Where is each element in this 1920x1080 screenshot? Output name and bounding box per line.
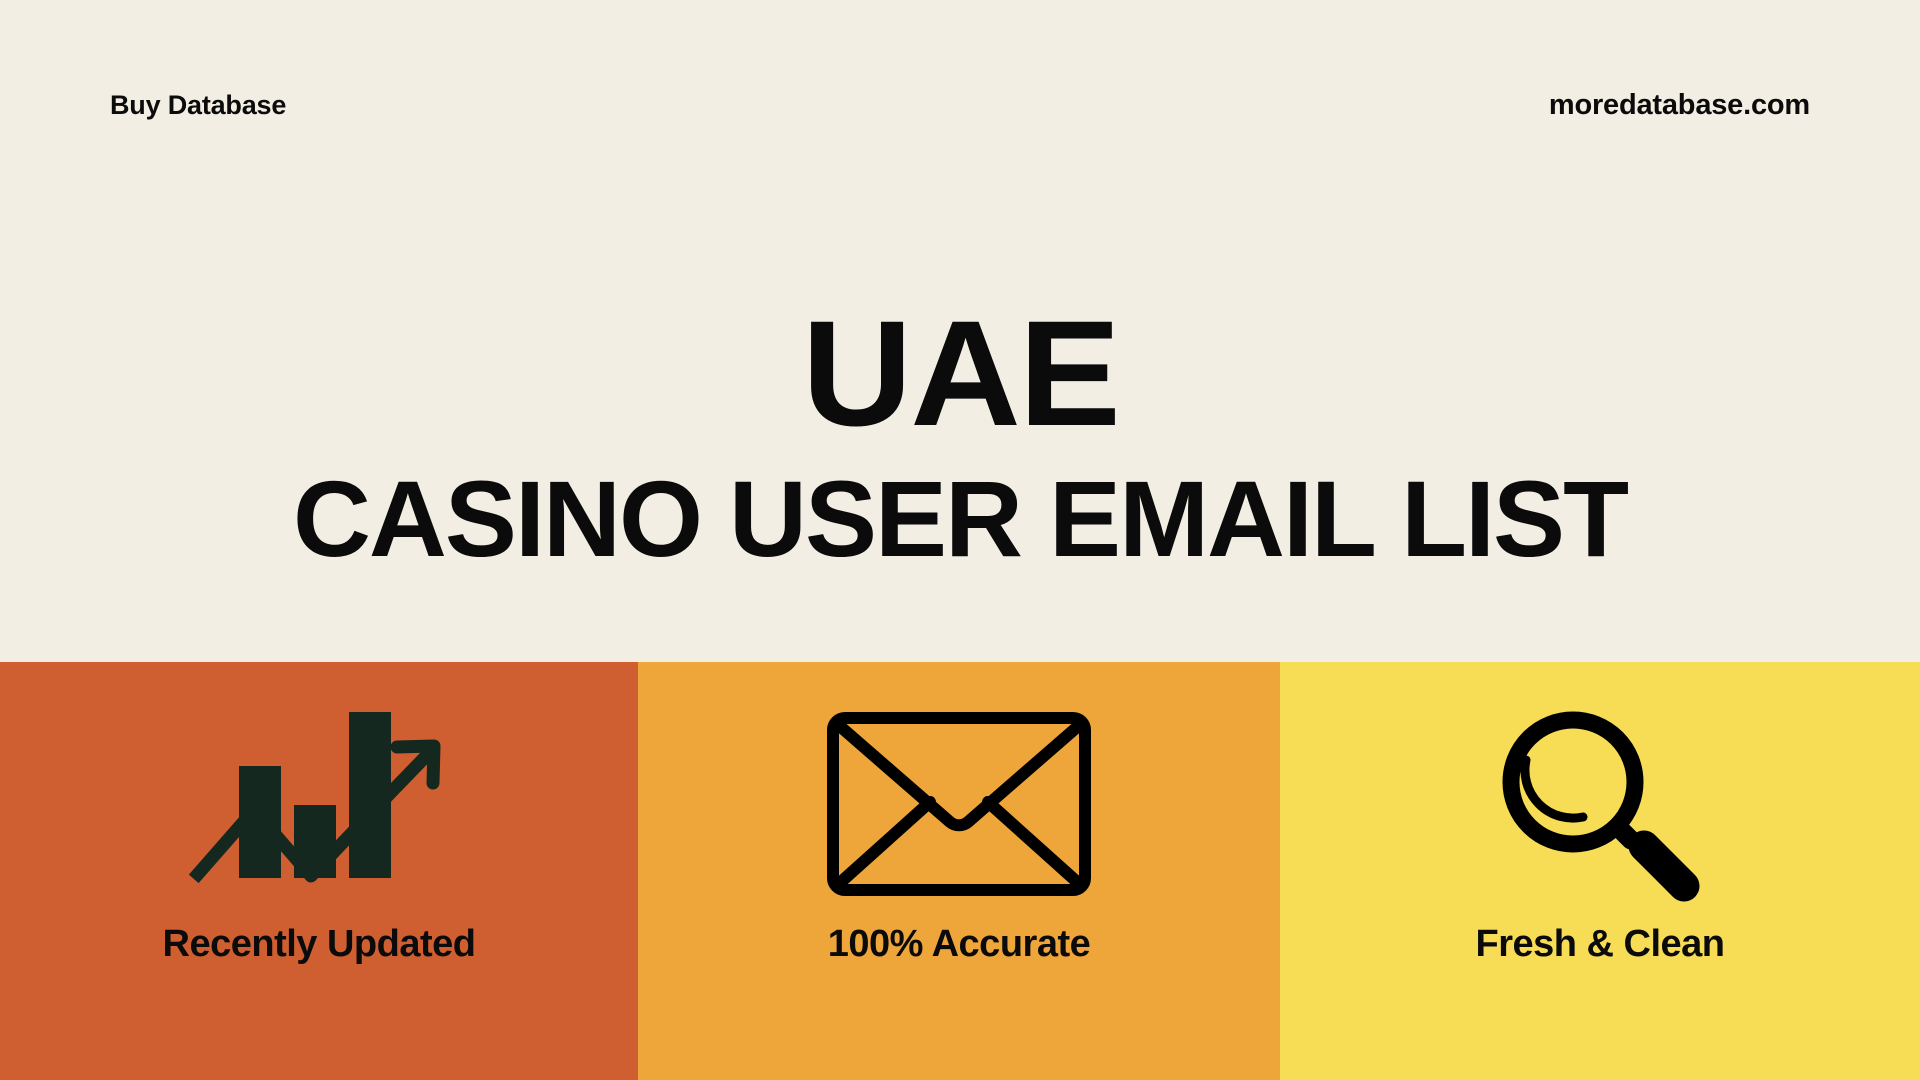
feature-panel-recently-updated: Recently Updated — [0, 662, 638, 1080]
envelope-icon — [824, 696, 1094, 911]
feature-panel-fresh-clean: Fresh & Clean — [1280, 662, 1920, 1080]
site-url-label: moredatabase.com — [1549, 89, 1810, 122]
feature-label-accurate: 100% Accurate — [828, 923, 1090, 966]
feature-label-fresh-clean: Fresh & Clean — [1475, 923, 1724, 966]
bar-chart-growth-icon — [184, 696, 454, 911]
feature-strip: Recently Updated 100% Accurate — [0, 662, 1920, 1080]
magnifier-icon — [1493, 696, 1708, 911]
hero-section: UAE CASINO USER EMAIL LIST — [0, 210, 1920, 662]
feature-label-recently-updated: Recently Updated — [163, 923, 476, 966]
page-subtitle: CASINO USER EMAIL LIST — [293, 465, 1627, 573]
banner-header: Buy Database moredatabase.com — [0, 0, 1920, 210]
feature-panel-accurate: 100% Accurate — [638, 662, 1280, 1080]
brand-label: Buy Database — [110, 90, 286, 121]
promo-banner: Buy Database moredatabase.com UAE CASINO… — [0, 0, 1920, 1080]
page-title: UAE — [802, 300, 1119, 447]
